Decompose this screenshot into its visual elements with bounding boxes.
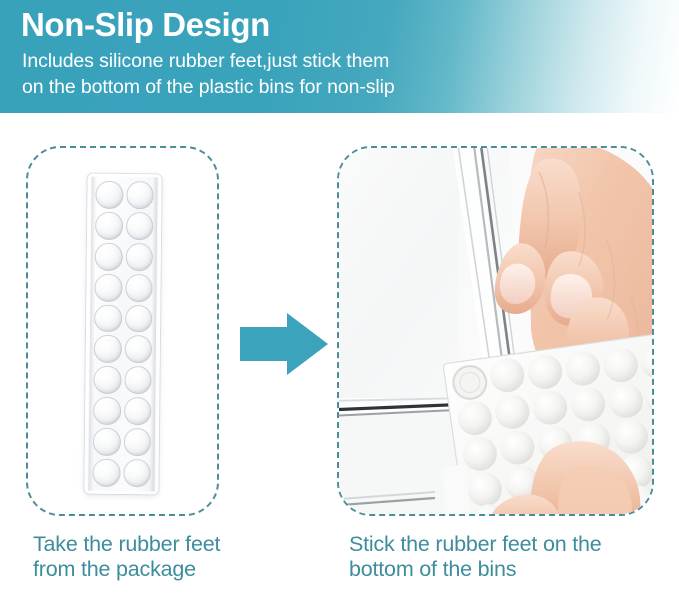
rubber-foot-bump — [94, 212, 122, 240]
rubber-foot-bump — [93, 335, 121, 363]
rubber-foot-bump — [125, 181, 153, 209]
bin-and-hand-image — [339, 148, 652, 514]
step-1-caption: Take the rubber feet from the package — [33, 532, 253, 582]
rubber-foot-bump — [124, 274, 152, 302]
rubber-foot-bump — [94, 242, 122, 270]
rubber-foot-bump — [123, 366, 151, 394]
rubber-foot-bump — [122, 459, 150, 487]
rubber-foot-bump — [125, 243, 153, 271]
rubber-foot-bump — [124, 336, 152, 364]
rubber-foot-bump — [92, 459, 120, 487]
rubber-foot-bump — [124, 305, 152, 333]
rubber-foot-bump — [94, 273, 122, 301]
rubber-foot-bump — [95, 181, 123, 209]
step-2-caption: Stick the rubber feet on the bottom of t… — [349, 532, 659, 582]
rubber-foot-bump — [93, 366, 121, 394]
right-arrow-icon — [240, 313, 328, 375]
step-2-panel — [337, 146, 654, 516]
rubber-foot-bump — [92, 428, 120, 456]
rubber-feet-blister-pack-image — [84, 174, 161, 495]
header-banner: Non-Slip Design Includes silicone rubber… — [0, 0, 679, 113]
rubber-foot-bump — [94, 304, 122, 332]
banner-subtitle-line-2: on the bottom of the plastic bins for no… — [22, 74, 395, 101]
page-title: Non-Slip Design — [21, 5, 270, 45]
rubber-foot-bump — [125, 212, 153, 240]
banner-subtitle-line-1: Includes silicone rubber feet,just stick… — [22, 48, 389, 75]
rubber-foot-bump — [93, 397, 121, 425]
step-1-panel — [26, 146, 219, 516]
bump-grid — [91, 180, 154, 489]
rubber-foot-bump — [123, 428, 151, 456]
rubber-foot-bump — [123, 397, 151, 425]
